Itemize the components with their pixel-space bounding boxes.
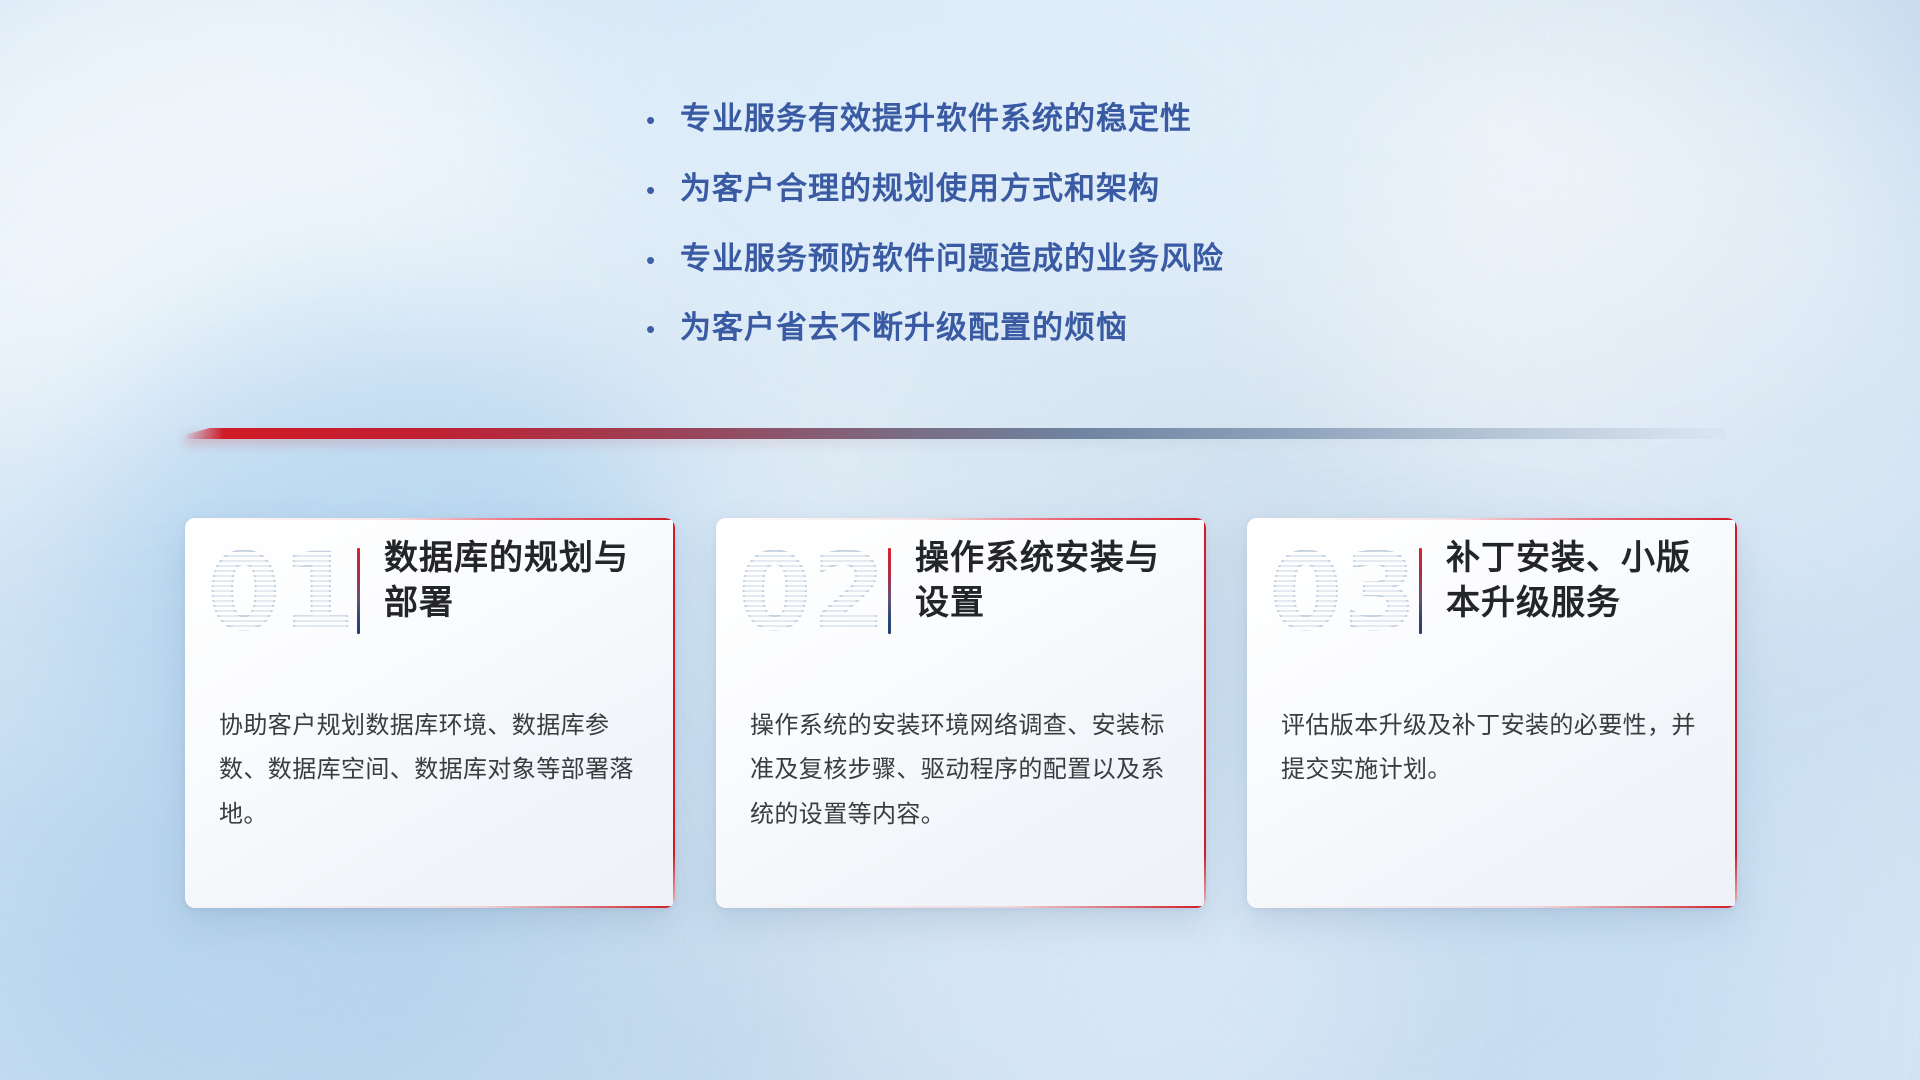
card-divider-rule bbox=[888, 548, 891, 634]
card-title: 操作系统安装与设置 bbox=[915, 536, 1206, 626]
list-item: • 专业服务有效提升软件系统的稳定性 bbox=[640, 100, 1400, 139]
card-header: 02 02 操作系统安装与设置 bbox=[716, 536, 1206, 666]
bullet-dot-icon: • bbox=[640, 177, 680, 203]
bullet-text: 专业服务预防软件问题造成的业务风险 bbox=[680, 240, 1224, 279]
bullet-text: 为客户省去不断升级配置的烦恼 bbox=[680, 309, 1128, 348]
card-header: 01 01 数据库的规划与部署 bbox=[185, 536, 675, 666]
service-card[interactable]: 03 03 补丁安装、小版本升级服务 评估版本升级及补丁安装的必要性，并提交实施… bbox=[1247, 518, 1737, 908]
bullet-dot-icon: • bbox=[640, 107, 680, 133]
bullet-text: 专业服务有效提升软件系统的稳定性 bbox=[680, 100, 1192, 139]
card-bottom-accent bbox=[716, 906, 1206, 908]
card-title: 数据库的规划与部署 bbox=[384, 536, 675, 626]
card-divider-rule bbox=[357, 548, 360, 634]
card-number-watermark: 03 03 bbox=[1269, 540, 1419, 644]
service-card-group: 01 01 数据库的规划与部署 协助客户规划数据库环境、数据库参数、数据库空间、… bbox=[185, 518, 1737, 918]
list-item: • 为客户合理的规划使用方式和架构 bbox=[640, 170, 1400, 209]
card-top-accent bbox=[185, 518, 675, 520]
card-number-watermark: 02 02 bbox=[738, 540, 888, 644]
card-bottom-accent bbox=[1247, 906, 1737, 908]
slide-root: • 专业服务有效提升软件系统的稳定性 • 为客户合理的规划使用方式和架构 • 专… bbox=[0, 0, 1920, 1080]
card-description: 协助客户规划数据库环境、数据库参数、数据库空间、数据库对象等部署落地。 bbox=[219, 704, 645, 837]
card-number-fill: 01 bbox=[207, 540, 357, 644]
bullet-text: 为客户合理的规划使用方式和架构 bbox=[680, 170, 1160, 209]
bullet-dot-icon: • bbox=[640, 247, 680, 273]
decorative-divider bbox=[185, 428, 1725, 439]
background-glow-1 bbox=[0, 0, 580, 500]
bullet-dot-icon: • bbox=[640, 316, 680, 342]
benefits-bullet-list: • 专业服务有效提升软件系统的稳定性 • 为客户合理的规划使用方式和架构 • 专… bbox=[640, 100, 1400, 379]
service-card[interactable]: 02 02 操作系统安装与设置 操作系统的安装环境网络调查、安装标准及复核步骤、… bbox=[716, 518, 1206, 908]
card-divider-rule bbox=[1419, 548, 1422, 634]
card-description: 评估版本升级及补丁安装的必要性，并提交实施计划。 bbox=[1281, 704, 1707, 793]
card-description: 操作系统的安装环境网络调查、安装标准及复核步骤、驱动程序的配置以及系统的设置等内… bbox=[750, 704, 1176, 837]
list-item: • 专业服务预防软件问题造成的业务风险 bbox=[640, 240, 1400, 279]
card-number-watermark: 01 01 bbox=[207, 540, 357, 644]
card-bottom-accent bbox=[185, 906, 675, 908]
card-top-accent bbox=[716, 518, 1206, 520]
card-number-fill: 03 bbox=[1269, 540, 1419, 644]
card-header: 03 03 补丁安装、小版本升级服务 bbox=[1247, 536, 1737, 666]
card-top-accent bbox=[1247, 518, 1737, 520]
card-number-fill: 02 bbox=[738, 540, 888, 644]
divider-line bbox=[185, 428, 1725, 439]
service-card[interactable]: 01 01 数据库的规划与部署 协助客户规划数据库环境、数据库参数、数据库空间、… bbox=[185, 518, 675, 908]
list-item: • 为客户省去不断升级配置的烦恼 bbox=[640, 309, 1400, 348]
card-title: 补丁安装、小版本升级服务 bbox=[1446, 536, 1737, 626]
